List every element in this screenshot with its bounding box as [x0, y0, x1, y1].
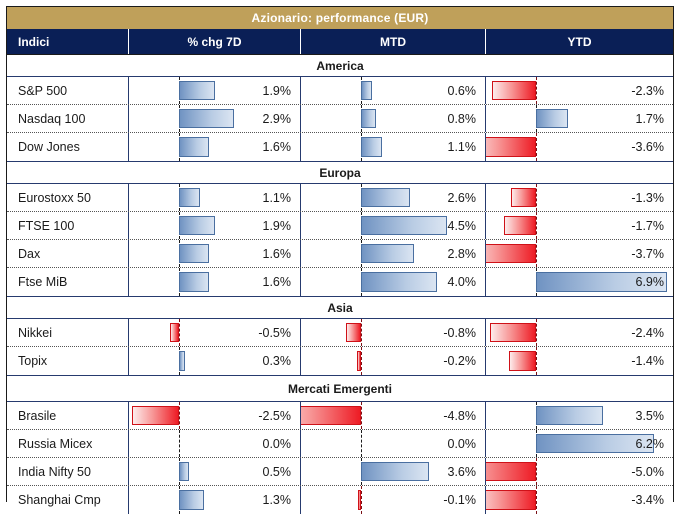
- cell-chg7d: 1.9%: [129, 77, 301, 104]
- row-label: India Nifty 50: [7, 458, 129, 485]
- column-header-row: Indici % chg 7D MTD YTD: [7, 29, 673, 55]
- cell-mtd: 2.8%: [301, 240, 486, 267]
- table-body: AmericaS&P 5001.9%0.6%-2.3%Nasdaq 1002.9…: [7, 55, 673, 514]
- section-header-mercati-emergenti: Mercati Emergenti: [7, 376, 673, 402]
- bar-positive: [361, 272, 437, 292]
- value-mtd: -0.1%: [443, 486, 476, 514]
- cell-mtd: 0.8%: [301, 105, 486, 132]
- row-label: Russia Micex: [7, 430, 129, 457]
- bar-negative: [492, 81, 536, 100]
- value-ytd: -3.7%: [631, 240, 664, 267]
- zero-baseline: [361, 402, 362, 429]
- table-row[interactable]: Russia Micex0.0%0.0%6.2%: [7, 430, 673, 458]
- zero-baseline: [536, 319, 537, 346]
- value-chg7d: 1.1%: [263, 184, 292, 211]
- bar-positive: [179, 109, 234, 128]
- value-ytd: -1.3%: [631, 184, 664, 211]
- zero-baseline: [536, 184, 537, 211]
- cell-ytd: -1.3%: [486, 184, 673, 211]
- bar-positive: [179, 216, 215, 235]
- table-row[interactable]: Topix0.3%-0.2%-1.4%: [7, 347, 673, 375]
- value-mtd: 2.8%: [448, 240, 477, 267]
- cell-chg7d: 1.6%: [129, 133, 301, 161]
- zero-baseline: [536, 486, 537, 514]
- section-group: Mercati EmergentiBrasile-2.5%-4.8%3.5%Ru…: [7, 376, 673, 514]
- section-group: EuropaEurostoxx 501.1%2.6%-1.3%FTSE 1001…: [7, 162, 673, 297]
- value-chg7d: 0.0%: [263, 430, 292, 457]
- value-ytd: 6.2%: [636, 430, 665, 457]
- bar-negative: [509, 351, 536, 371]
- cell-mtd: 4.0%: [301, 268, 486, 296]
- bar-positive: [361, 216, 447, 235]
- cell-mtd: 3.6%: [301, 458, 486, 485]
- cell-chg7d: -0.5%: [129, 319, 301, 346]
- row-label: Topix: [7, 347, 129, 375]
- value-ytd: -3.6%: [631, 133, 664, 161]
- value-ytd: -3.4%: [631, 486, 664, 514]
- table-row[interactable]: Dow Jones1.6%1.1%-3.6%: [7, 133, 673, 161]
- row-label: FTSE 100: [7, 212, 129, 239]
- zero-baseline: [536, 212, 537, 239]
- cell-ytd: -3.7%: [486, 240, 673, 267]
- cell-ytd: -3.6%: [486, 133, 673, 161]
- value-ytd: 1.7%: [636, 105, 665, 132]
- bar-positive: [361, 244, 414, 263]
- table-row[interactable]: Nasdaq 1002.9%0.8%1.7%: [7, 105, 673, 133]
- value-ytd: -1.7%: [631, 212, 664, 239]
- bar-positive: [179, 188, 200, 207]
- bar-negative: [170, 323, 180, 342]
- bar-negative: [486, 490, 536, 510]
- value-chg7d: 1.9%: [263, 77, 292, 104]
- bar-positive: [179, 272, 209, 292]
- cell-chg7d: 1.9%: [129, 212, 301, 239]
- cell-ytd: -2.4%: [486, 319, 673, 346]
- cell-mtd: 2.6%: [301, 184, 486, 211]
- value-mtd: -4.8%: [443, 402, 476, 429]
- cell-mtd: 1.1%: [301, 133, 486, 161]
- cell-mtd: -4.8%: [301, 402, 486, 429]
- cell-ytd: 3.5%: [486, 402, 673, 429]
- value-mtd: 0.6%: [448, 77, 477, 104]
- value-ytd: -5.0%: [631, 458, 664, 485]
- bar-negative: [486, 462, 536, 481]
- bar-negative: [486, 244, 536, 263]
- bar-negative: [358, 490, 361, 510]
- section-group: AsiaNikkei-0.5%-0.8%-2.4%Topix0.3%-0.2%-…: [7, 297, 673, 376]
- cell-chg7d: 1.6%: [129, 268, 301, 296]
- bar-positive: [361, 188, 410, 207]
- cell-mtd: 0.0%: [301, 430, 486, 457]
- table-row[interactable]: Shanghai Cmp1.3%-0.1%-3.4%: [7, 486, 673, 514]
- value-mtd: 4.0%: [448, 268, 477, 296]
- bar-negative: [486, 137, 536, 157]
- value-ytd: 3.5%: [636, 402, 665, 429]
- value-mtd: -0.8%: [443, 319, 476, 346]
- value-chg7d: 0.3%: [263, 347, 292, 375]
- bar-negative: [490, 323, 536, 342]
- value-chg7d: 1.3%: [263, 486, 292, 514]
- value-mtd: 3.6%: [448, 458, 477, 485]
- cell-chg7d: 2.9%: [129, 105, 301, 132]
- bar-positive: [361, 137, 382, 157]
- bar-negative: [357, 351, 361, 371]
- section-group: AmericaS&P 5001.9%0.6%-2.3%Nasdaq 1002.9…: [7, 55, 673, 162]
- cell-mtd: 0.6%: [301, 77, 486, 104]
- cell-mtd: -0.8%: [301, 319, 486, 346]
- bar-positive: [179, 137, 209, 157]
- cell-chg7d: 1.1%: [129, 184, 301, 211]
- row-label: Nasdaq 100: [7, 105, 129, 132]
- zero-baseline: [361, 430, 362, 457]
- bar-negative: [301, 406, 361, 425]
- cell-ytd: 1.7%: [486, 105, 673, 132]
- bar-positive: [361, 462, 429, 481]
- table-row[interactable]: S&P 5001.9%0.6%-2.3%: [7, 77, 673, 105]
- table-row[interactable]: Brasile-2.5%-4.8%3.5%: [7, 402, 673, 430]
- row-label: Dow Jones: [7, 133, 129, 161]
- cell-mtd: -0.2%: [301, 347, 486, 375]
- section-header-america: America: [7, 55, 673, 77]
- table-row[interactable]: Dax1.6%2.8%-3.7%: [7, 240, 673, 268]
- bar-positive: [179, 462, 189, 481]
- row-label: Brasile: [7, 402, 129, 429]
- value-ytd: -1.4%: [631, 347, 664, 375]
- cell-ytd: -1.7%: [486, 212, 673, 239]
- value-mtd: 0.0%: [448, 430, 477, 457]
- zero-baseline: [536, 77, 537, 104]
- cell-ytd: -5.0%: [486, 458, 673, 485]
- table-row[interactable]: Eurostoxx 501.1%2.6%-1.3%: [7, 184, 673, 212]
- zero-baseline: [361, 319, 362, 346]
- cell-ytd: -3.4%: [486, 486, 673, 514]
- bar-positive: [179, 351, 185, 371]
- cell-ytd: 6.2%: [486, 430, 673, 457]
- bar-negative: [132, 406, 180, 425]
- value-chg7d: 1.9%: [263, 212, 292, 239]
- row-label: Nikkei: [7, 319, 129, 346]
- value-mtd: 1.1%: [448, 133, 477, 161]
- value-chg7d: 1.6%: [263, 240, 292, 267]
- zero-baseline: [536, 240, 537, 267]
- row-label: Eurostoxx 50: [7, 184, 129, 211]
- value-ytd: 6.9%: [636, 268, 665, 296]
- value-mtd: -0.2%: [443, 347, 476, 375]
- cell-mtd: 4.5%: [301, 212, 486, 239]
- bar-positive: [361, 109, 376, 128]
- zero-baseline: [361, 347, 362, 375]
- cell-chg7d: -2.5%: [129, 402, 301, 429]
- table-row[interactable]: Ftse MiB1.6%4.0%6.9%: [7, 268, 673, 296]
- cell-chg7d: 0.5%: [129, 458, 301, 485]
- cell-chg7d: 0.0%: [129, 430, 301, 457]
- table-row[interactable]: Nikkei-0.5%-0.8%-2.4%: [7, 319, 673, 347]
- value-chg7d: 0.5%: [263, 458, 292, 485]
- zero-baseline: [361, 486, 362, 514]
- section-header-asia: Asia: [7, 297, 673, 319]
- bar-negative: [346, 323, 361, 342]
- table-title: Azionario: performance (EUR): [7, 7, 673, 29]
- bar-positive: [179, 490, 204, 510]
- value-chg7d: 1.6%: [263, 133, 292, 161]
- row-label: S&P 500: [7, 77, 129, 104]
- cell-ytd: 6.9%: [486, 268, 673, 296]
- cell-ytd: -1.4%: [486, 347, 673, 375]
- bar-positive: [536, 406, 603, 425]
- zero-baseline: [536, 458, 537, 485]
- table-row[interactable]: FTSE 1001.9%4.5%-1.7%: [7, 212, 673, 240]
- row-label: Ftse MiB: [7, 268, 129, 296]
- zero-baseline: [179, 319, 180, 346]
- bar-positive: [536, 109, 568, 128]
- value-mtd: 4.5%: [448, 212, 477, 239]
- bar-negative: [511, 188, 536, 207]
- bar-positive: [179, 244, 209, 263]
- value-mtd: 0.8%: [448, 105, 477, 132]
- table-row[interactable]: India Nifty 500.5%3.6%-5.0%: [7, 458, 673, 486]
- cell-chg7d: 0.3%: [129, 347, 301, 375]
- zero-baseline: [179, 430, 180, 457]
- column-header-chg7d: % chg 7D: [129, 29, 301, 54]
- column-header-ytd: YTD: [486, 29, 673, 54]
- section-header-europa: Europa: [7, 162, 673, 184]
- zero-baseline: [179, 402, 180, 429]
- bar-negative: [504, 216, 536, 235]
- cell-chg7d: 1.6%: [129, 240, 301, 267]
- row-label: Shanghai Cmp: [7, 486, 129, 514]
- value-ytd: -2.3%: [631, 77, 664, 104]
- performance-table: Azionario: performance (EUR) Indici % ch…: [6, 6, 674, 502]
- cell-chg7d: 1.3%: [129, 486, 301, 514]
- value-mtd: 2.6%: [448, 184, 477, 211]
- bar-positive: [361, 81, 372, 100]
- value-chg7d: 1.6%: [263, 268, 292, 296]
- cell-mtd: -0.1%: [301, 486, 486, 514]
- zero-baseline: [536, 347, 537, 375]
- value-chg7d: 2.9%: [263, 105, 292, 132]
- row-label: Dax: [7, 240, 129, 267]
- zero-baseline: [536, 133, 537, 161]
- value-chg7d: -0.5%: [258, 319, 291, 346]
- bar-positive: [179, 81, 215, 100]
- column-header-indici: Indici: [7, 29, 129, 54]
- value-ytd: -2.4%: [631, 319, 664, 346]
- cell-ytd: -2.3%: [486, 77, 673, 104]
- value-chg7d: -2.5%: [258, 402, 291, 429]
- column-header-mtd: MTD: [301, 29, 486, 54]
